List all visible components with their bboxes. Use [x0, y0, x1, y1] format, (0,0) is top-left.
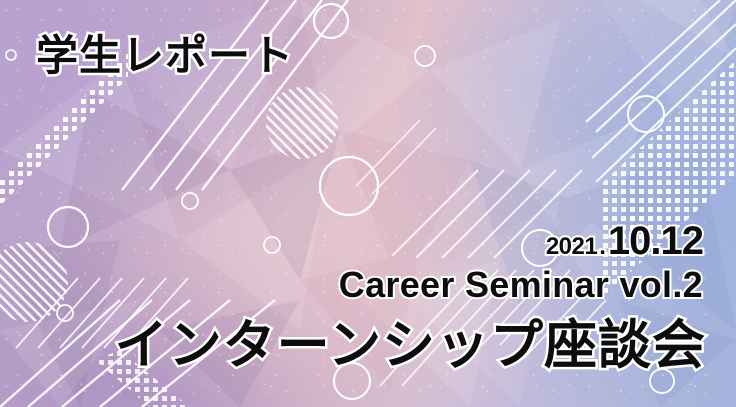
- student-report-banner: 学生レポート 2021 . 10.12 Career Seminar vol.2…: [0, 0, 736, 407]
- event-date-year: 2021: [546, 233, 597, 261]
- event-date: 2021 . 10.12: [546, 219, 703, 264]
- event-date-monthday: 10.12: [608, 219, 703, 264]
- event-main-title: インターンシップ座談会: [115, 303, 706, 379]
- event-date-separator: .: [599, 233, 606, 261]
- event-subtitle: Career Seminar vol.2: [339, 264, 703, 306]
- page-title: 学生レポート: [36, 22, 294, 83]
